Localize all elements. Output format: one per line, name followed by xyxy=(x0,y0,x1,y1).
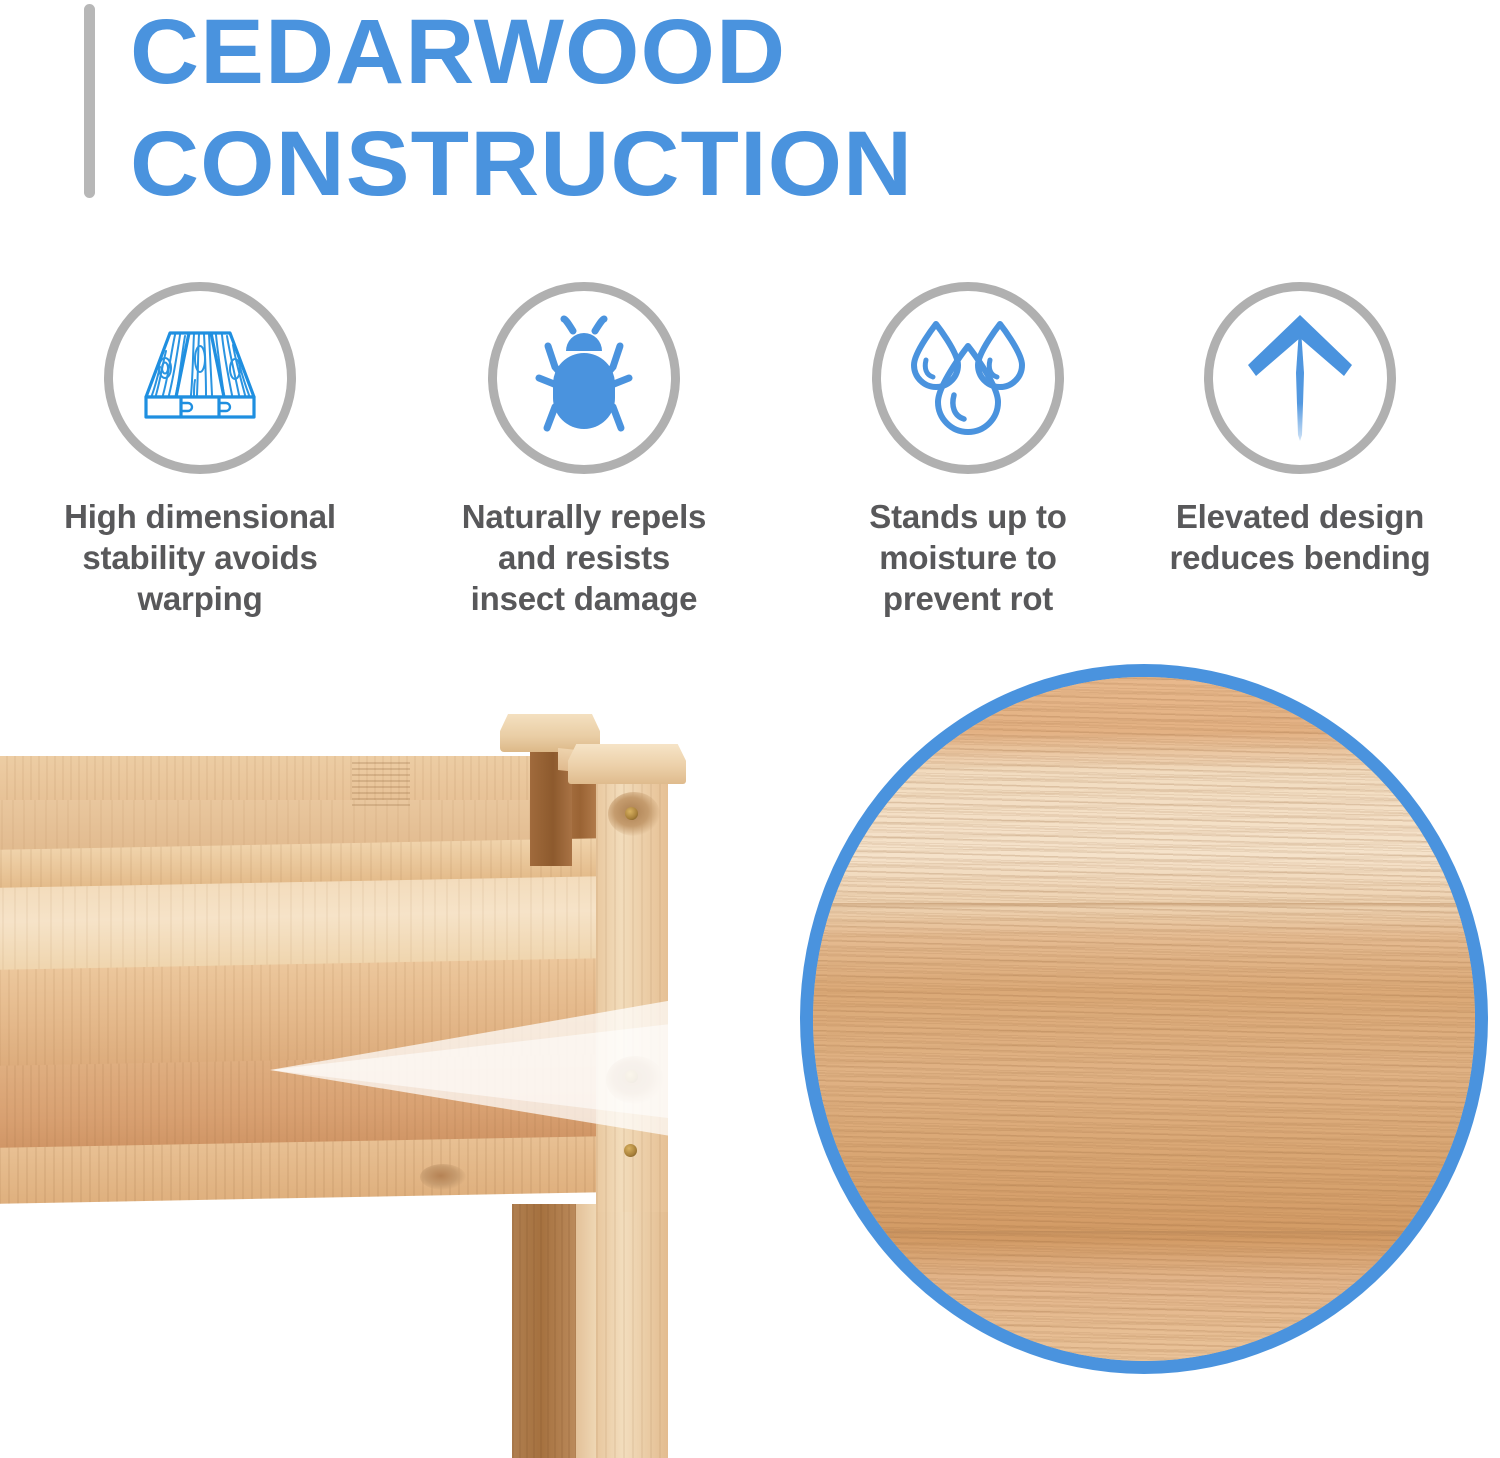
magnified-plank-seam xyxy=(813,1231,1475,1237)
screw-head xyxy=(625,1070,638,1083)
feature-item-insect-resistance: Naturally repels and resists insect dama… xyxy=(398,282,770,642)
feature-caption: Stands up to moisture to prevent rot xyxy=(782,496,1154,619)
planter-bottom-apron xyxy=(0,1136,615,1204)
planter-front-post-cap xyxy=(568,744,686,784)
screw-head xyxy=(625,807,638,820)
feature-icon-circle xyxy=(1204,282,1396,474)
page-title: CEDARWOOD CONSTRUCTION xyxy=(130,0,1378,220)
magnified-wood-grain-lines xyxy=(813,677,1475,1361)
wood-grain-magnifier xyxy=(800,664,1488,1374)
planter-front-leg xyxy=(596,1204,668,1458)
planter-front-plank-middle xyxy=(0,958,615,1070)
heading-block: CEDARWOOD CONSTRUCTION xyxy=(0,0,1500,230)
feature-icon-circle xyxy=(872,282,1064,474)
heading-accent-bar xyxy=(84,4,95,198)
feature-icon-circle xyxy=(104,282,296,474)
planter-joint-texture xyxy=(352,762,410,810)
wood-planks-icon xyxy=(136,323,264,433)
bug-icon xyxy=(524,315,644,441)
water-droplets-icon xyxy=(906,318,1030,438)
feature-item-dimensional-stability: High dimensional stability avoids warpin… xyxy=(14,282,386,642)
feature-caption: Naturally repels and resists insect dama… xyxy=(398,496,770,619)
up-arrow-icon xyxy=(1240,313,1360,443)
wood-knot xyxy=(420,1164,466,1190)
planter-inner-leg xyxy=(512,1204,576,1458)
feature-item-moisture-resistance: Stands up to moisture to prevent rot xyxy=(782,282,1154,642)
feature-row: High dimensional stability avoids warpin… xyxy=(0,282,1500,642)
feature-caption: Elevated design reduces bending xyxy=(1114,496,1486,578)
feature-icon-circle xyxy=(488,282,680,474)
screw-head xyxy=(624,1144,637,1157)
planter-leg-shadow-gap xyxy=(576,1204,598,1458)
magnified-plank-seam xyxy=(813,903,1475,908)
feature-item-elevated-design: Elevated design reduces bending xyxy=(1114,282,1486,642)
product-photo xyxy=(0,652,1500,1458)
feature-caption: High dimensional stability avoids warpin… xyxy=(14,496,386,619)
